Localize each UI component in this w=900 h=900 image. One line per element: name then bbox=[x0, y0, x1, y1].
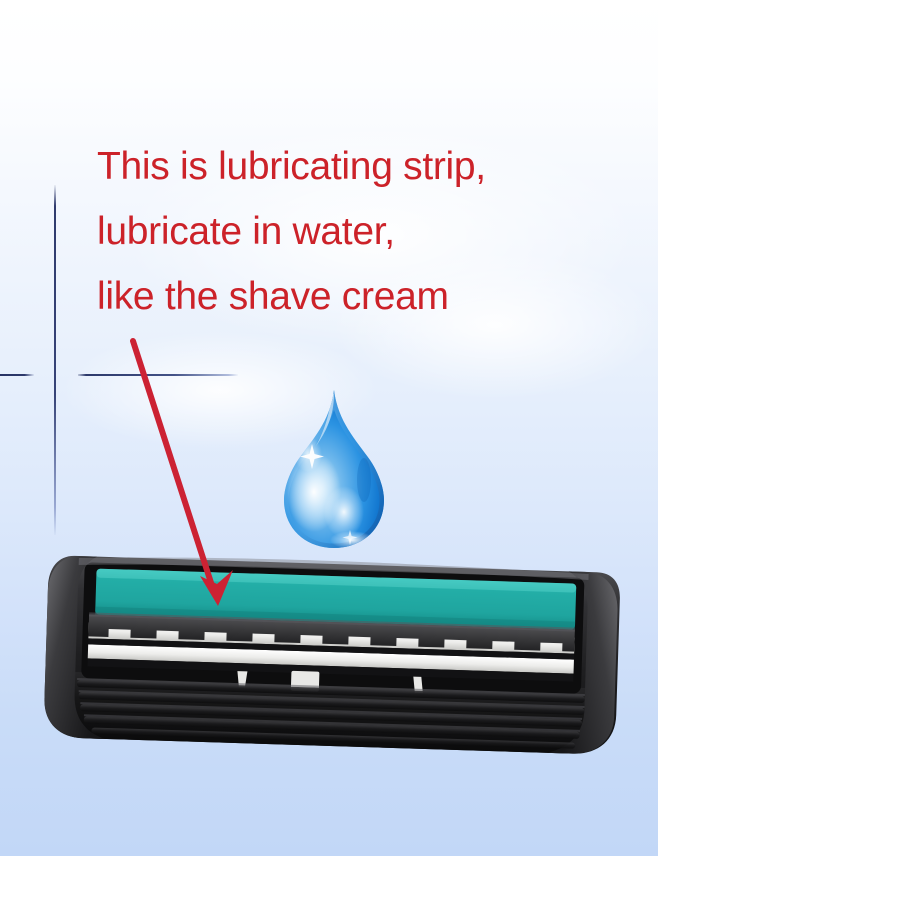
product-image-canvas: This is lubricating strip, lubricate in … bbox=[0, 0, 900, 900]
guide-line-horizontal-right bbox=[78, 374, 238, 376]
guide-line-vertical bbox=[54, 185, 56, 535]
razor-cartridge bbox=[39, 547, 623, 761]
product-photo: This is lubricating strip, lubricate in … bbox=[0, 0, 658, 856]
annotation-line-3: like the shave cream bbox=[97, 264, 657, 329]
water-droplet-icon bbox=[278, 388, 390, 552]
annotation-line-1: This is lubricating strip, bbox=[97, 134, 657, 199]
guide-line-horizontal-left bbox=[0, 374, 34, 376]
annotation-line-2: lubricate in water, bbox=[97, 199, 657, 264]
annotation-text: This is lubricating strip, lubricate in … bbox=[97, 134, 657, 329]
